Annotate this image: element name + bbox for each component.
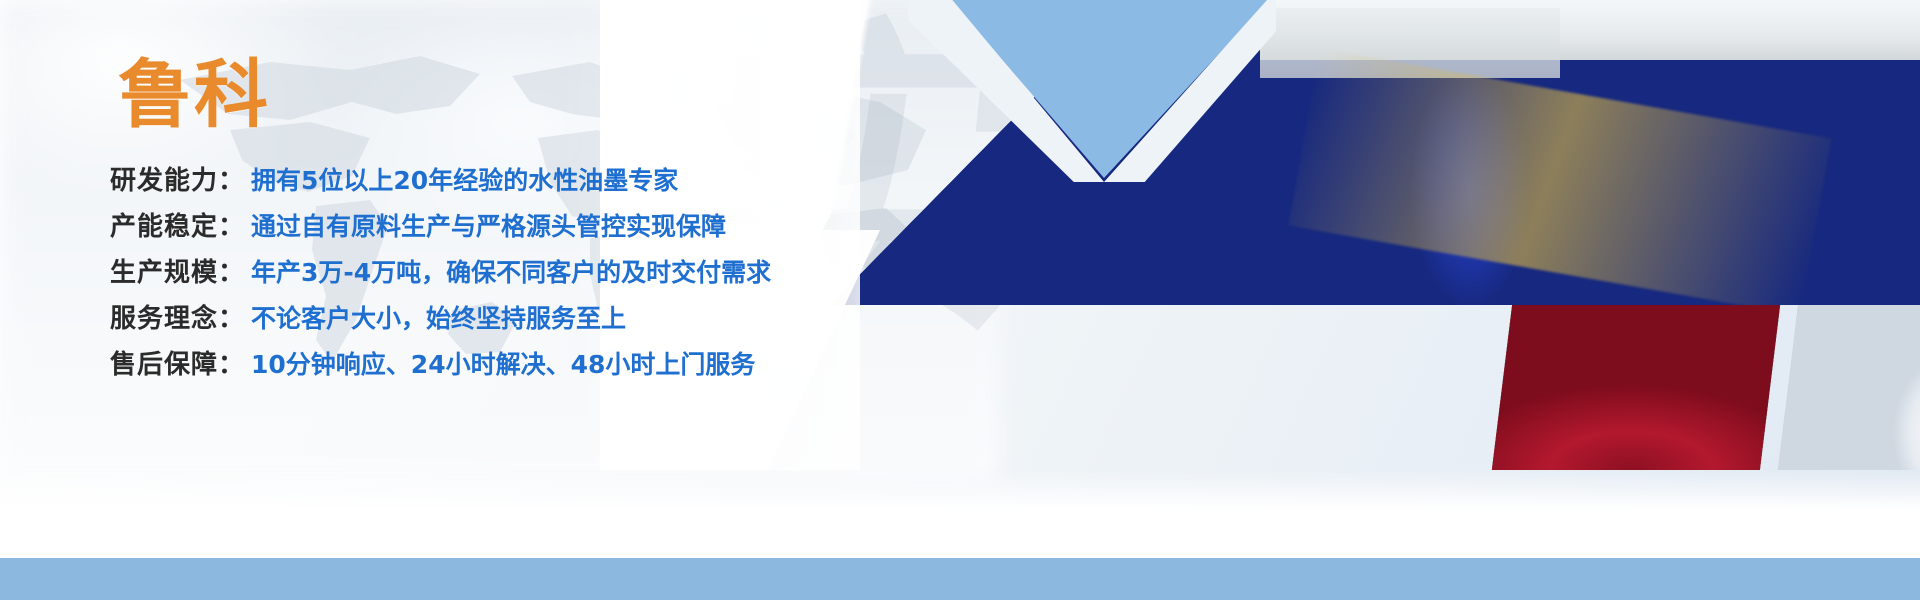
strength-label: 产能稳定： [110,206,245,243]
strength-list: 研发能力： 拥有5位以上20年经验的水性油墨专家 产能稳定： 通过自有原料生产与… [110,160,771,390]
bottom-blue-bar [0,558,1920,600]
strength-row: 服务理念： 不论客户大小，始终坚持服务至上 [110,298,771,344]
floor-lane-marking [1288,48,1831,316]
strength-value: 不论客户大小，始终坚持服务至上 [251,299,626,335]
strength-value: 通过自有原料生产与严格源头管控实现保障 [251,207,726,243]
content-panel: 鲁科 研发能力： 拥有5位以上20年经验的水性油墨专家 产能稳定： 通过自有原料… [0,0,780,470]
bottom-white-band [0,470,1920,558]
strength-row: 研发能力： 拥有5位以上20年经验的水性油墨专家 [110,160,771,206]
strength-label: 生产规模： [110,252,245,289]
strength-label: 研发能力： [110,160,245,197]
company-strength-banner: 实 鲁科 研发能力： 拥有5位以上20年经验的水性油墨专家 [0,0,1920,600]
strength-row: 售后保障： 10分钟响应、24小时解决、48小时上门服务 [110,344,771,390]
strength-row: 生产规模： 年产3万-4万吨，确保不同客户的及时交付需求 [110,252,771,298]
thumbnail-laboratory [1778,305,1920,470]
strength-value: 拥有5位以上20年经验的水性油墨专家 [251,161,678,197]
thumbnail-mixing-tank [1492,305,1780,470]
company-logo: 鲁科 [118,58,270,132]
strength-value: 10分钟响应、24小时解决、48小时上门服务 [251,345,755,381]
thumbnail-strip [1472,305,1920,470]
strength-value: 年产3万-4万吨，确保不同客户的及时交付需求 [251,253,771,289]
hero-photo-warehouse [830,0,1920,305]
strength-label: 服务理念： [110,298,245,335]
strength-row: 产能稳定： 通过自有原料生产与严格源头管控实现保障 [110,206,771,252]
strength-label: 售后保障： [110,344,245,381]
